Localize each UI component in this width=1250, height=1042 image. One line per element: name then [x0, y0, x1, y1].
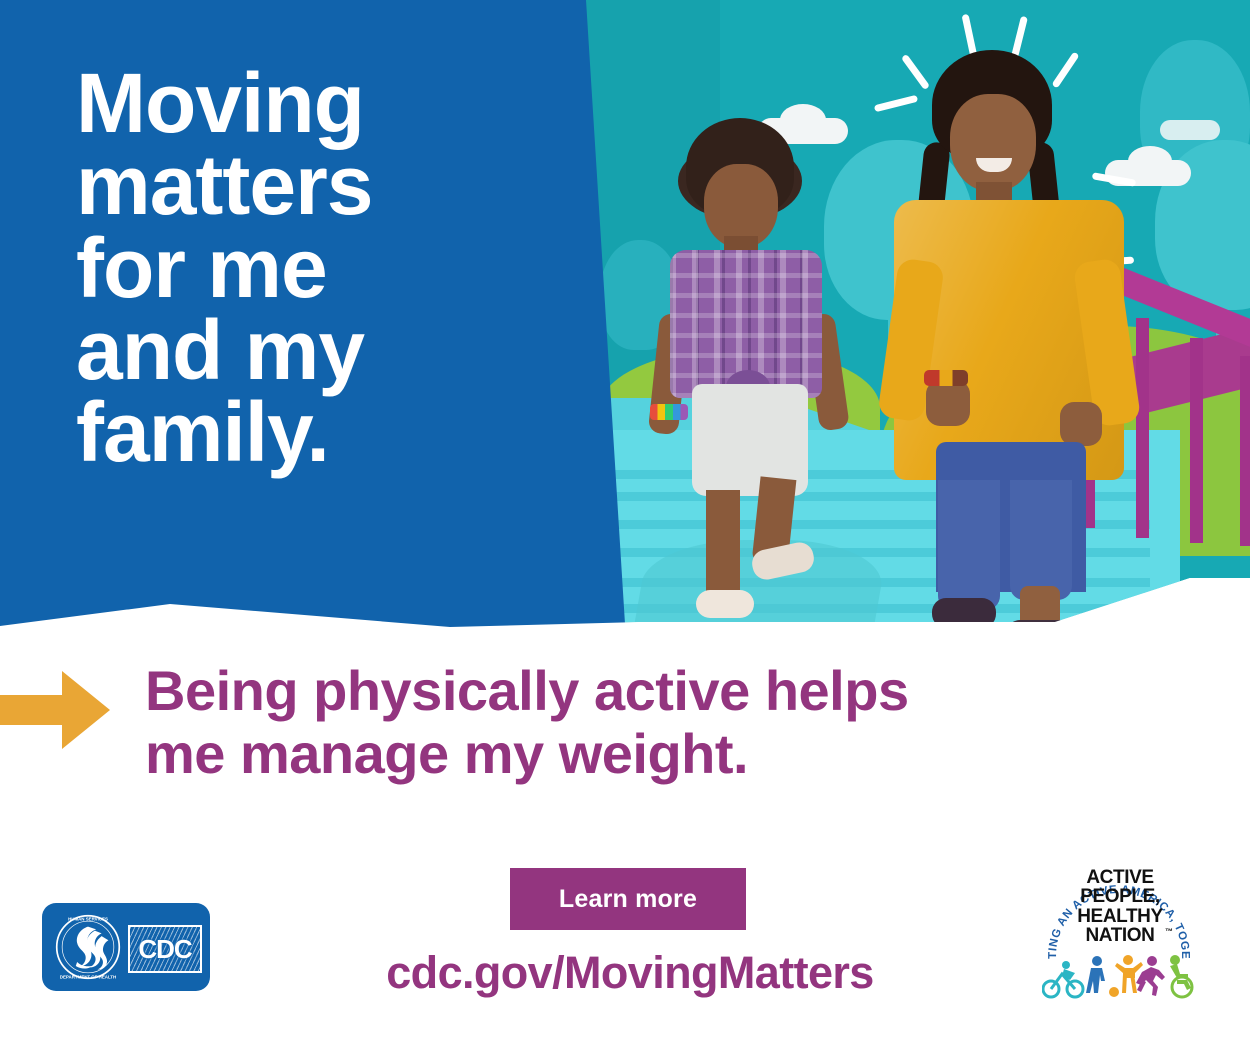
- woman-bracelet: [924, 370, 968, 386]
- aphn-activity-figures: [1042, 952, 1196, 1000]
- railing-post: [1190, 338, 1203, 543]
- girl-shoe: [696, 590, 754, 618]
- hhs-seal-icon: HUMAN SERVICES DEPARTMENT OF HEALTH: [54, 913, 122, 981]
- woman-figure: [888, 50, 1138, 590]
- active-people-healthy-nation-logo: CREATING AN ACTIVE AMERICA, TOGETHER ACT…: [1034, 852, 1204, 1004]
- svg-text:DEPARTMENT OF HEALTH: DEPARTMENT OF HEALTH: [60, 974, 116, 979]
- cdc-hatched-box: CDC: [128, 925, 202, 973]
- cloud-icon: [1160, 120, 1220, 140]
- campaign-url[interactable]: cdc.gov/MovingMatters: [330, 947, 930, 999]
- svg-text:HUMAN SERVICES: HUMAN SERVICES: [68, 916, 108, 921]
- cdc-moving-matters-poster: Moving matters for me and my family. Bei…: [0, 0, 1250, 1042]
- celebrating-person-icon: [1109, 955, 1143, 997]
- runner-icon: [1136, 956, 1165, 996]
- cyclist-icon: [1043, 974, 1083, 997]
- walker-icon: [1086, 956, 1105, 993]
- woman-face: [950, 94, 1036, 192]
- hhs-cdc-logo: HUMAN SERVICES DEPARTMENT OF HEALTH CDC: [42, 903, 210, 991]
- page-title: Moving matters for me and my family.: [76, 62, 556, 474]
- woman-hand: [1060, 402, 1102, 446]
- woman-leg: [938, 480, 1000, 610]
- woman-leg: [1010, 480, 1072, 600]
- woman-hand: [926, 380, 970, 426]
- aphn-wordmark: ACTIVE PEOPLE, HEALTHY NATION: [1060, 868, 1180, 946]
- learn-more-button[interactable]: Learn more: [510, 868, 746, 930]
- cdc-wordmark: CDC: [130, 927, 200, 971]
- hero-section: Moving matters for me and my family.: [0, 0, 1250, 640]
- railing-post: [1240, 356, 1250, 546]
- aphn-trademark: ™: [1165, 927, 1173, 936]
- girl-figure: [648, 118, 858, 578]
- tagline-text: Being physically active helps me manage …: [145, 660, 1125, 785]
- girl-wristband: [650, 404, 688, 420]
- wheelchair-user-icon: [1170, 955, 1192, 997]
- girl-leg: [706, 490, 740, 606]
- right-arrow-icon: [0, 671, 110, 749]
